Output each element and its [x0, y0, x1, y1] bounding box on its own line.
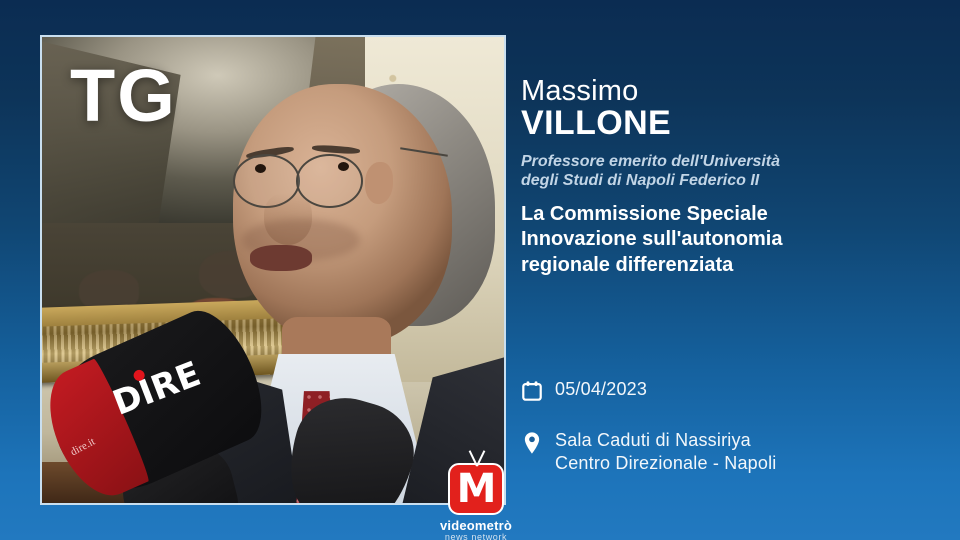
event-location: Sala Caduti di Nassiriya Centro Direzion…	[555, 429, 777, 476]
logo-name: videometrò	[421, 518, 531, 533]
videometro-logo: M videometrò news network	[421, 450, 531, 540]
event-date-row: 05/04/2023	[521, 378, 921, 407]
calendar-icon	[521, 378, 555, 407]
guest-last-name: VILLONE	[521, 105, 921, 142]
interview-photo-frame: DIRE dire.it TG	[40, 35, 506, 505]
topic-line-3: regionale differenziata	[521, 254, 733, 276]
guest-info-panel: Massimo VILLONE Professore emerito dell'…	[521, 76, 921, 278]
event-location-row: Sala Caduti di Nassiriya Centro Direzion…	[521, 429, 921, 476]
guest-role: Professore emerito dell'Università degli…	[521, 152, 921, 191]
topic-line-1: La Commissione Speciale	[521, 203, 768, 225]
tv-set-icon: M	[448, 463, 504, 515]
event-meta-panel: 05/04/2023 Sala Caduti di Nassiriya Cent…	[521, 378, 921, 498]
guest-role-line-2: degli Studi di Napoli Federico II	[521, 172, 759, 189]
guest-role-line-1: Professore emerito dell'Università	[521, 153, 780, 170]
topic-headline: La Commissione Speciale Innovazione sull…	[521, 202, 921, 278]
logo-tagline: news network	[421, 532, 531, 540]
subject-mouth	[250, 245, 311, 271]
logo-letter-m: M	[457, 469, 496, 509]
subject-head	[233, 84, 453, 345]
antenna-rod-left	[469, 450, 478, 466]
guest-first-name: Massimo	[521, 76, 921, 107]
event-date: 05/04/2023	[555, 378, 647, 401]
event-location-line-2: Centro Direzionale - Napoli	[555, 452, 777, 475]
interview-photo: DIRE dire.it TG	[42, 37, 504, 503]
tv-antenna-icon	[448, 450, 504, 466]
lower-third-graphic: DIRE dire.it TG M videometrò news networ…	[0, 0, 960, 540]
eyeglasses-icon	[233, 154, 391, 204]
event-location-line-1: Sala Caduti di Nassiriya	[555, 429, 777, 452]
topic-line-2: Innovazione sull'autonomia	[521, 228, 782, 250]
tg-channel-badge: TG	[70, 59, 177, 133]
